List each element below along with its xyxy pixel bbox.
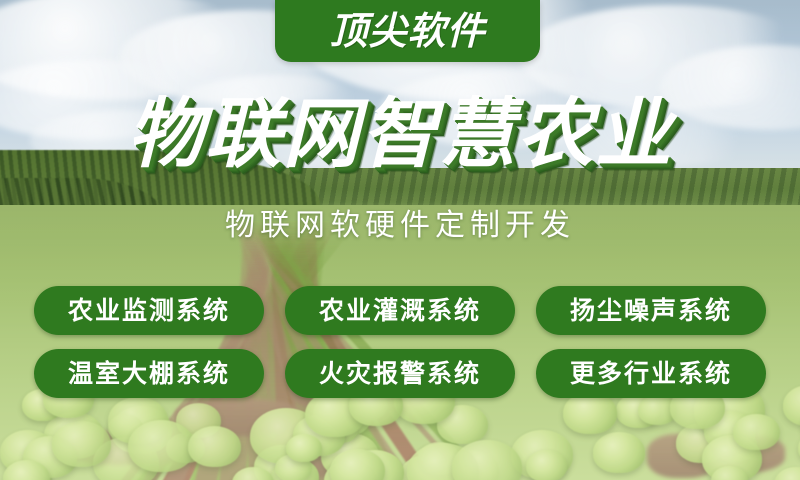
lettuce-head — [52, 421, 111, 467]
system-pill-greenhouse[interactable]: 温室大棚系统 — [34, 349, 264, 398]
lettuce-head — [783, 385, 800, 426]
system-pill-more-industries[interactable]: 更多行业系统 — [536, 349, 766, 398]
pill-label: 温室大棚系统 — [68, 361, 230, 386]
lettuce-head — [593, 432, 645, 473]
pill-label: 农业灌溉系统 — [319, 298, 481, 323]
promo-poster: 顶尖软件 物联网智慧农业 物联网软硬件定制开发 农业监测系统 农业灌溉系统 扬尘… — [0, 0, 800, 480]
lettuce-head — [774, 467, 800, 480]
system-pill-dust-noise[interactable]: 扬尘噪声系统 — [536, 286, 766, 335]
headline-title: 物联网智慧农业 — [0, 96, 800, 172]
brand-banner[interactable]: 顶尖软件 — [275, 0, 540, 62]
system-pill-agriculture-monitoring[interactable]: 农业监测系统 — [34, 286, 264, 335]
lettuce-head — [188, 426, 241, 468]
pill-label: 扬尘噪声系统 — [570, 298, 732, 323]
lettuce-head — [128, 420, 195, 472]
lettuce-head — [286, 434, 322, 462]
subtitle-text: 物联网软硬件定制开发 — [0, 208, 800, 244]
lettuce-head — [526, 450, 567, 480]
lettuce-head — [563, 392, 617, 434]
pill-label: 火灾报警系统 — [319, 361, 481, 386]
lettuce-head — [733, 414, 779, 450]
pill-label: 更多行业系统 — [570, 361, 732, 386]
lettuce-head — [452, 440, 522, 480]
system-pill-agriculture-irrigation[interactable]: 农业灌溉系统 — [285, 286, 515, 335]
pill-label: 农业监测系统 — [68, 298, 230, 323]
brand-name: 顶尖软件 — [329, 12, 485, 50]
system-pill-fire-alarm[interactable]: 火灾报警系统 — [285, 349, 515, 398]
system-pill-grid: 农业监测系统 农业灌溉系统 扬尘噪声系统 温室大棚系统 火灾报警系统 更多行业系… — [34, 286, 766, 398]
